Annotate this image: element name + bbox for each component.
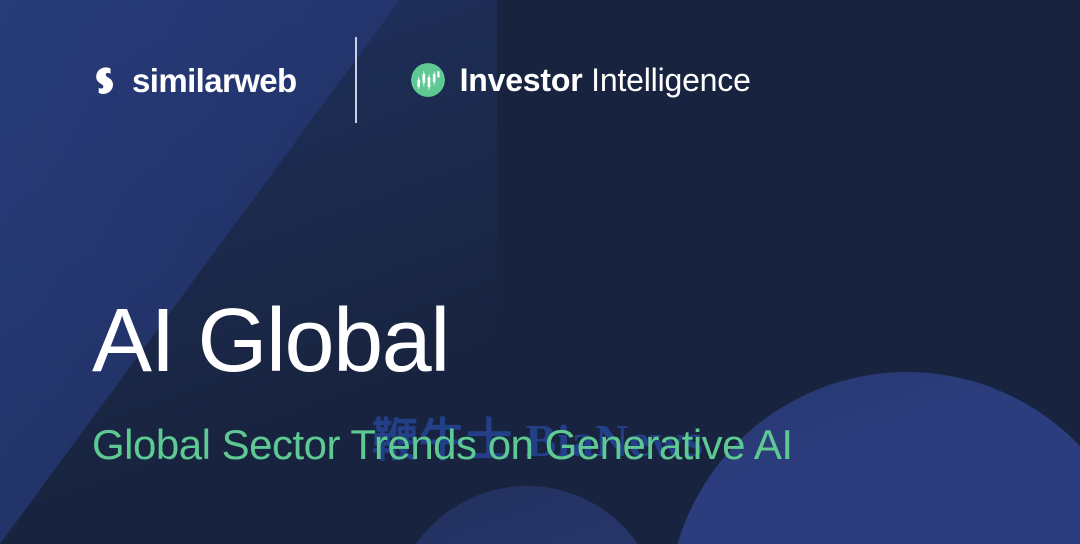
logo-lockup: similarweb — [92, 48, 751, 112]
title-slide: similarweb — [0, 0, 1080, 544]
investor-intelligence-wordmark: Investor Intelligence — [460, 64, 751, 96]
hero-block: AI Global Global Sector Trends on Genera… — [92, 296, 992, 468]
page-subtitle: Global Sector Trends on Generative AI — [92, 422, 992, 468]
intelligence-word-text: Intelligence — [591, 62, 751, 98]
similarweb-logo-mark-icon — [92, 66, 120, 94]
investor-intelligence-logo: Investor Intelligence — [411, 63, 751, 97]
logo-divider — [355, 37, 357, 123]
candlestick-chart-icon — [411, 63, 445, 97]
page-title: AI Global — [92, 296, 992, 386]
investor-word: Investor — [460, 62, 583, 98]
similarweb-logo: similarweb — [92, 64, 297, 97]
similarweb-wordmark: similarweb — [132, 64, 297, 97]
intelligence-word — [582, 62, 591, 98]
